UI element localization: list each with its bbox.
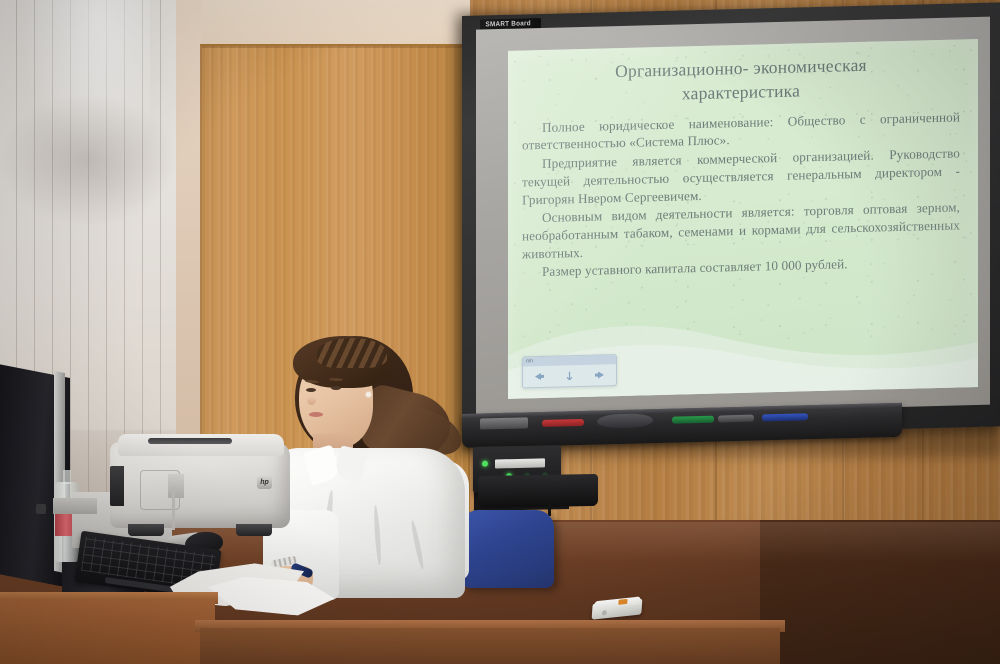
green-pen[interactable] bbox=[672, 416, 714, 424]
hp-logo: hp bbox=[257, 476, 272, 489]
presentation-toolbar[interactable]: п/п bbox=[522, 354, 617, 388]
nose bbox=[307, 396, 316, 405]
remote-orange-button[interactable] bbox=[618, 599, 627, 605]
red-pen[interactable] bbox=[542, 419, 584, 427]
desk-front-right bbox=[200, 628, 780, 664]
smart-board-logo-text: SMART Board bbox=[486, 20, 531, 28]
black-bag bbox=[478, 474, 598, 508]
slide-sheen bbox=[508, 39, 978, 399]
eraser[interactable] bbox=[597, 413, 653, 428]
hp-logo-text: hp bbox=[257, 476, 272, 489]
printer-output-slot bbox=[148, 438, 232, 444]
photo-scene: SMART Board Организационно- экономическа… bbox=[0, 0, 1000, 664]
earring bbox=[366, 392, 371, 397]
board-surface: Организационно- экономическая характерис… bbox=[476, 17, 990, 418]
printer-ports bbox=[168, 474, 184, 498]
prev-slide-arrow-icon[interactable] bbox=[532, 371, 545, 380]
cabinet-panel bbox=[53, 498, 97, 514]
hair-braid bbox=[317, 338, 387, 368]
presenter bbox=[255, 330, 490, 592]
gray-pen[interactable] bbox=[718, 415, 754, 423]
printer-foot-right bbox=[236, 524, 272, 536]
blue-pen[interactable] bbox=[762, 413, 808, 421]
lips bbox=[309, 412, 323, 417]
printer-side-panel bbox=[110, 466, 124, 506]
printer-cable bbox=[172, 486, 175, 530]
printer[interactable]: hp bbox=[110, 428, 290, 536]
eye-right bbox=[331, 386, 341, 390]
projected-slide: Организационно- экономическая характерис… bbox=[508, 39, 978, 399]
next-slide-arrow-icon[interactable] bbox=[594, 370, 607, 379]
cabinet-button[interactable] bbox=[36, 504, 46, 514]
smart-board[interactable]: SMART Board Организационно- экономическа… bbox=[462, 2, 1000, 440]
printer-foot-left bbox=[128, 524, 164, 536]
eye-left bbox=[306, 388, 316, 392]
pen-tool-icon[interactable] bbox=[563, 371, 576, 380]
control-box-label-strip bbox=[495, 458, 545, 468]
blinds-shadow bbox=[0, 95, 176, 225]
desk-front-left bbox=[0, 600, 215, 664]
